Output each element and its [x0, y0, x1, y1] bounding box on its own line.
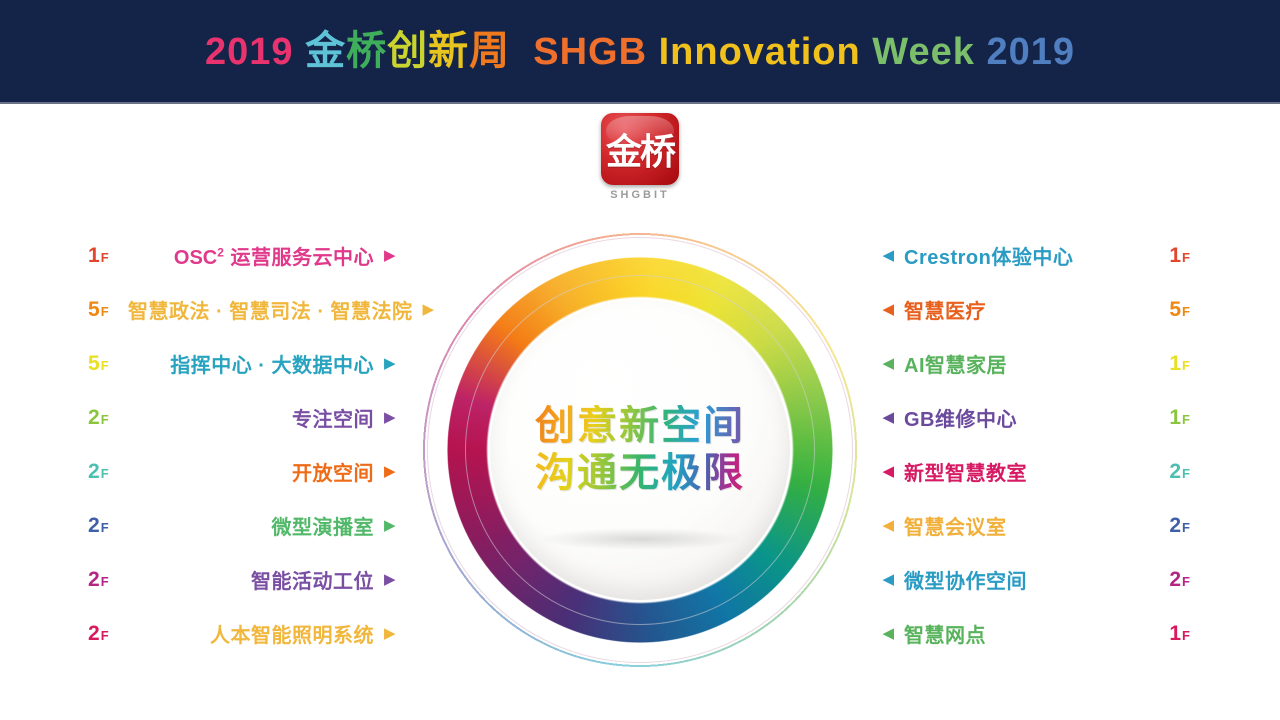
floor-badge: 1F: [1160, 245, 1190, 266]
room-label: OSC2 运营服务云中心: [128, 241, 374, 270]
header-title-segment-7: [510, 33, 533, 71]
header-title-segment-11: [861, 33, 873, 71]
floor-suffix: F: [1182, 574, 1190, 589]
floor-badge: 5F: [88, 299, 118, 320]
room-label: 智能活动工位: [128, 565, 374, 594]
room-label: 智慧政法 · 智慧司法 · 智慧法院: [128, 295, 413, 324]
room-row[interactable]: ◀智慧医疗5F: [880, 282, 1190, 336]
floor-badge: 5F: [88, 353, 118, 374]
arrow-left-icon: ◀: [880, 464, 894, 479]
floor-badge: 5F: [1160, 299, 1190, 320]
room-row[interactable]: 2F智能活动工位▶: [88, 552, 398, 606]
floor-suffix: F: [1182, 358, 1190, 373]
header-title-segment-5: 新: [428, 31, 469, 71]
room-label: Crestron体验中心: [904, 241, 1150, 270]
arrow-right-icon: ▶: [384, 248, 398, 263]
floor-suffix: F: [101, 628, 109, 643]
room-row[interactable]: 2F微型演播室▶: [88, 498, 398, 552]
floor-number: 1: [88, 244, 100, 267]
room-label: 智慧网点: [904, 619, 1150, 648]
floor-suffix: F: [1182, 412, 1190, 427]
room-label: 微型演播室: [128, 511, 374, 540]
arrow-right-icon: ▶: [384, 518, 398, 533]
floor-badge: 1F: [88, 245, 118, 266]
floor-number: 2: [88, 514, 100, 537]
arrow-left-icon: ◀: [880, 356, 894, 371]
floor-number: 5: [1169, 298, 1181, 321]
center-slogan-line2: 沟通无极限: [535, 452, 745, 495]
floor-badge: 1F: [1160, 353, 1190, 374]
floor-suffix: F: [101, 250, 109, 265]
room-row[interactable]: ◀微型协作空间2F: [880, 552, 1190, 606]
floor-number: 1: [1169, 352, 1181, 375]
floor-suffix: F: [101, 412, 109, 427]
header-title-segment-6: 周: [469, 31, 510, 71]
arrow-right-icon: ▶: [384, 356, 398, 371]
room-row[interactable]: ◀智慧网点1F: [880, 606, 1190, 660]
arrow-left-icon: ◀: [880, 572, 894, 587]
header-title-segment-4: 创: [387, 31, 428, 71]
header-title-segment-3: 桥: [346, 31, 387, 71]
room-row[interactable]: 5F智慧政法 · 智慧司法 · 智慧法院▶: [88, 282, 398, 336]
arrow-right-icon: ▶: [384, 464, 398, 479]
floor-number: 2: [88, 568, 100, 591]
floor-suffix: F: [101, 520, 109, 535]
logo-glyph: 金桥: [601, 113, 679, 185]
center-slogan: 创意新空间 沟通无极限: [418, 228, 862, 672]
room-label: 开放空间: [128, 457, 374, 486]
arrow-left-icon: ◀: [880, 626, 894, 641]
room-row[interactable]: 2F专注空间▶: [88, 390, 398, 444]
floor-suffix: F: [101, 358, 109, 373]
logo-wordmark: SHGBIT: [610, 189, 670, 201]
floor-badge: 2F: [88, 623, 118, 644]
room-label: GB维修中心: [904, 403, 1150, 432]
room-row[interactable]: ◀AI智慧家居1F: [880, 336, 1190, 390]
header-title-segment-10: Innovation: [659, 33, 861, 71]
arrow-left-icon: ◀: [880, 302, 894, 317]
header-title-segment-8: SHGB: [533, 33, 647, 71]
room-label: 指挥中心 · 大数据中心: [128, 349, 374, 378]
floor-suffix: F: [1182, 250, 1190, 265]
floor-badge: 1F: [1160, 407, 1190, 428]
room-row[interactable]: ◀GB维修中心1F: [880, 390, 1190, 444]
floor-number: 2: [88, 622, 100, 645]
floor-suffix: F: [101, 466, 109, 481]
header-title: 2019 金桥创新周 SHGB Innovation Week 2019: [205, 31, 1075, 71]
arrow-right-icon: ▶: [384, 626, 398, 641]
floor-number: 5: [88, 352, 100, 375]
room-label: 专注空间: [128, 403, 374, 432]
header-title-segment-1: [294, 33, 306, 71]
room-row[interactable]: 2F人本智能照明系统▶: [88, 606, 398, 660]
room-label: 人本智能照明系统: [128, 619, 374, 648]
arrow-right-icon: ▶: [423, 302, 437, 317]
floor-number: 5: [88, 298, 100, 321]
room-row[interactable]: 5F指挥中心 · 大数据中心▶: [88, 336, 398, 390]
floor-suffix: F: [1182, 466, 1190, 481]
floor-badge: 2F: [88, 569, 118, 590]
room-label: 新型智慧教室: [904, 457, 1150, 486]
center-ring: 创意新空间 沟通无极限: [418, 228, 862, 672]
arrow-left-icon: ◀: [880, 248, 894, 263]
arrow-left-icon: ◀: [880, 410, 894, 425]
header-title-segment-0: 2019: [205, 33, 294, 71]
floor-number: 2: [88, 406, 100, 429]
floor-number: 2: [1169, 568, 1181, 591]
floor-suffix: F: [101, 574, 109, 589]
arrow-right-icon: ▶: [384, 572, 398, 587]
arrow-right-icon: ▶: [384, 410, 398, 425]
header-title-segment-13: [975, 33, 987, 71]
header-title-segment-2: 金: [305, 31, 346, 71]
floor-suffix: F: [1182, 520, 1190, 535]
shgbit-logo: 金桥 SHGBIT: [597, 113, 683, 209]
floor-number: 2: [1169, 460, 1181, 483]
header-title-segment-14: 2019: [986, 33, 1075, 71]
room-row[interactable]: ◀Crestron体验中心1F: [880, 228, 1190, 282]
left-room-list: 1FOSC2 运营服务云中心▶5F智慧政法 · 智慧司法 · 智慧法院▶5F指挥…: [88, 228, 398, 660]
room-row[interactable]: ◀智慧会议室2F: [880, 498, 1190, 552]
floor-number: 1: [1169, 622, 1181, 645]
room-label: 智慧会议室: [904, 511, 1150, 540]
floor-number: 1: [1169, 406, 1181, 429]
room-row[interactable]: 2F开放空间▶: [88, 444, 398, 498]
floor-badge: 1F: [1160, 623, 1190, 644]
poster-root: 2019 金桥创新周 SHGB Innovation Week 2019 金桥 …: [0, 0, 1280, 720]
room-row[interactable]: ◀新型智慧教室2F: [880, 444, 1190, 498]
logo-tile: 金桥: [601, 113, 679, 185]
header-title-segment-12: Week: [872, 33, 975, 71]
floor-badge: 2F: [88, 461, 118, 482]
floor-badge: 2F: [88, 515, 118, 536]
room-label: 智慧医疗: [904, 295, 1150, 324]
header-title-segment-9: [647, 33, 659, 71]
room-label: AI智慧家居: [904, 349, 1150, 378]
floor-number: 2: [88, 460, 100, 483]
room-row[interactable]: 1FOSC2 运营服务云中心▶: [88, 228, 398, 282]
floor-badge: 2F: [88, 407, 118, 428]
floor-number: 2: [1169, 514, 1181, 537]
floor-suffix: F: [1182, 628, 1190, 643]
floor-badge: 2F: [1160, 515, 1190, 536]
floor-suffix: F: [1182, 304, 1190, 319]
right-room-list: ◀Crestron体验中心1F◀智慧医疗5F◀AI智慧家居1F◀GB维修中心1F…: [880, 228, 1190, 660]
floor-suffix: F: [101, 304, 109, 319]
floor-badge: 2F: [1160, 569, 1190, 590]
room-label: 微型协作空间: [904, 565, 1150, 594]
floor-badge: 2F: [1160, 461, 1190, 482]
floor-number: 1: [1169, 244, 1181, 267]
header-band: 2019 金桥创新周 SHGB Innovation Week 2019: [0, 0, 1280, 104]
arrow-left-icon: ◀: [880, 518, 894, 533]
center-slogan-line1: 创意新空间: [535, 405, 745, 448]
